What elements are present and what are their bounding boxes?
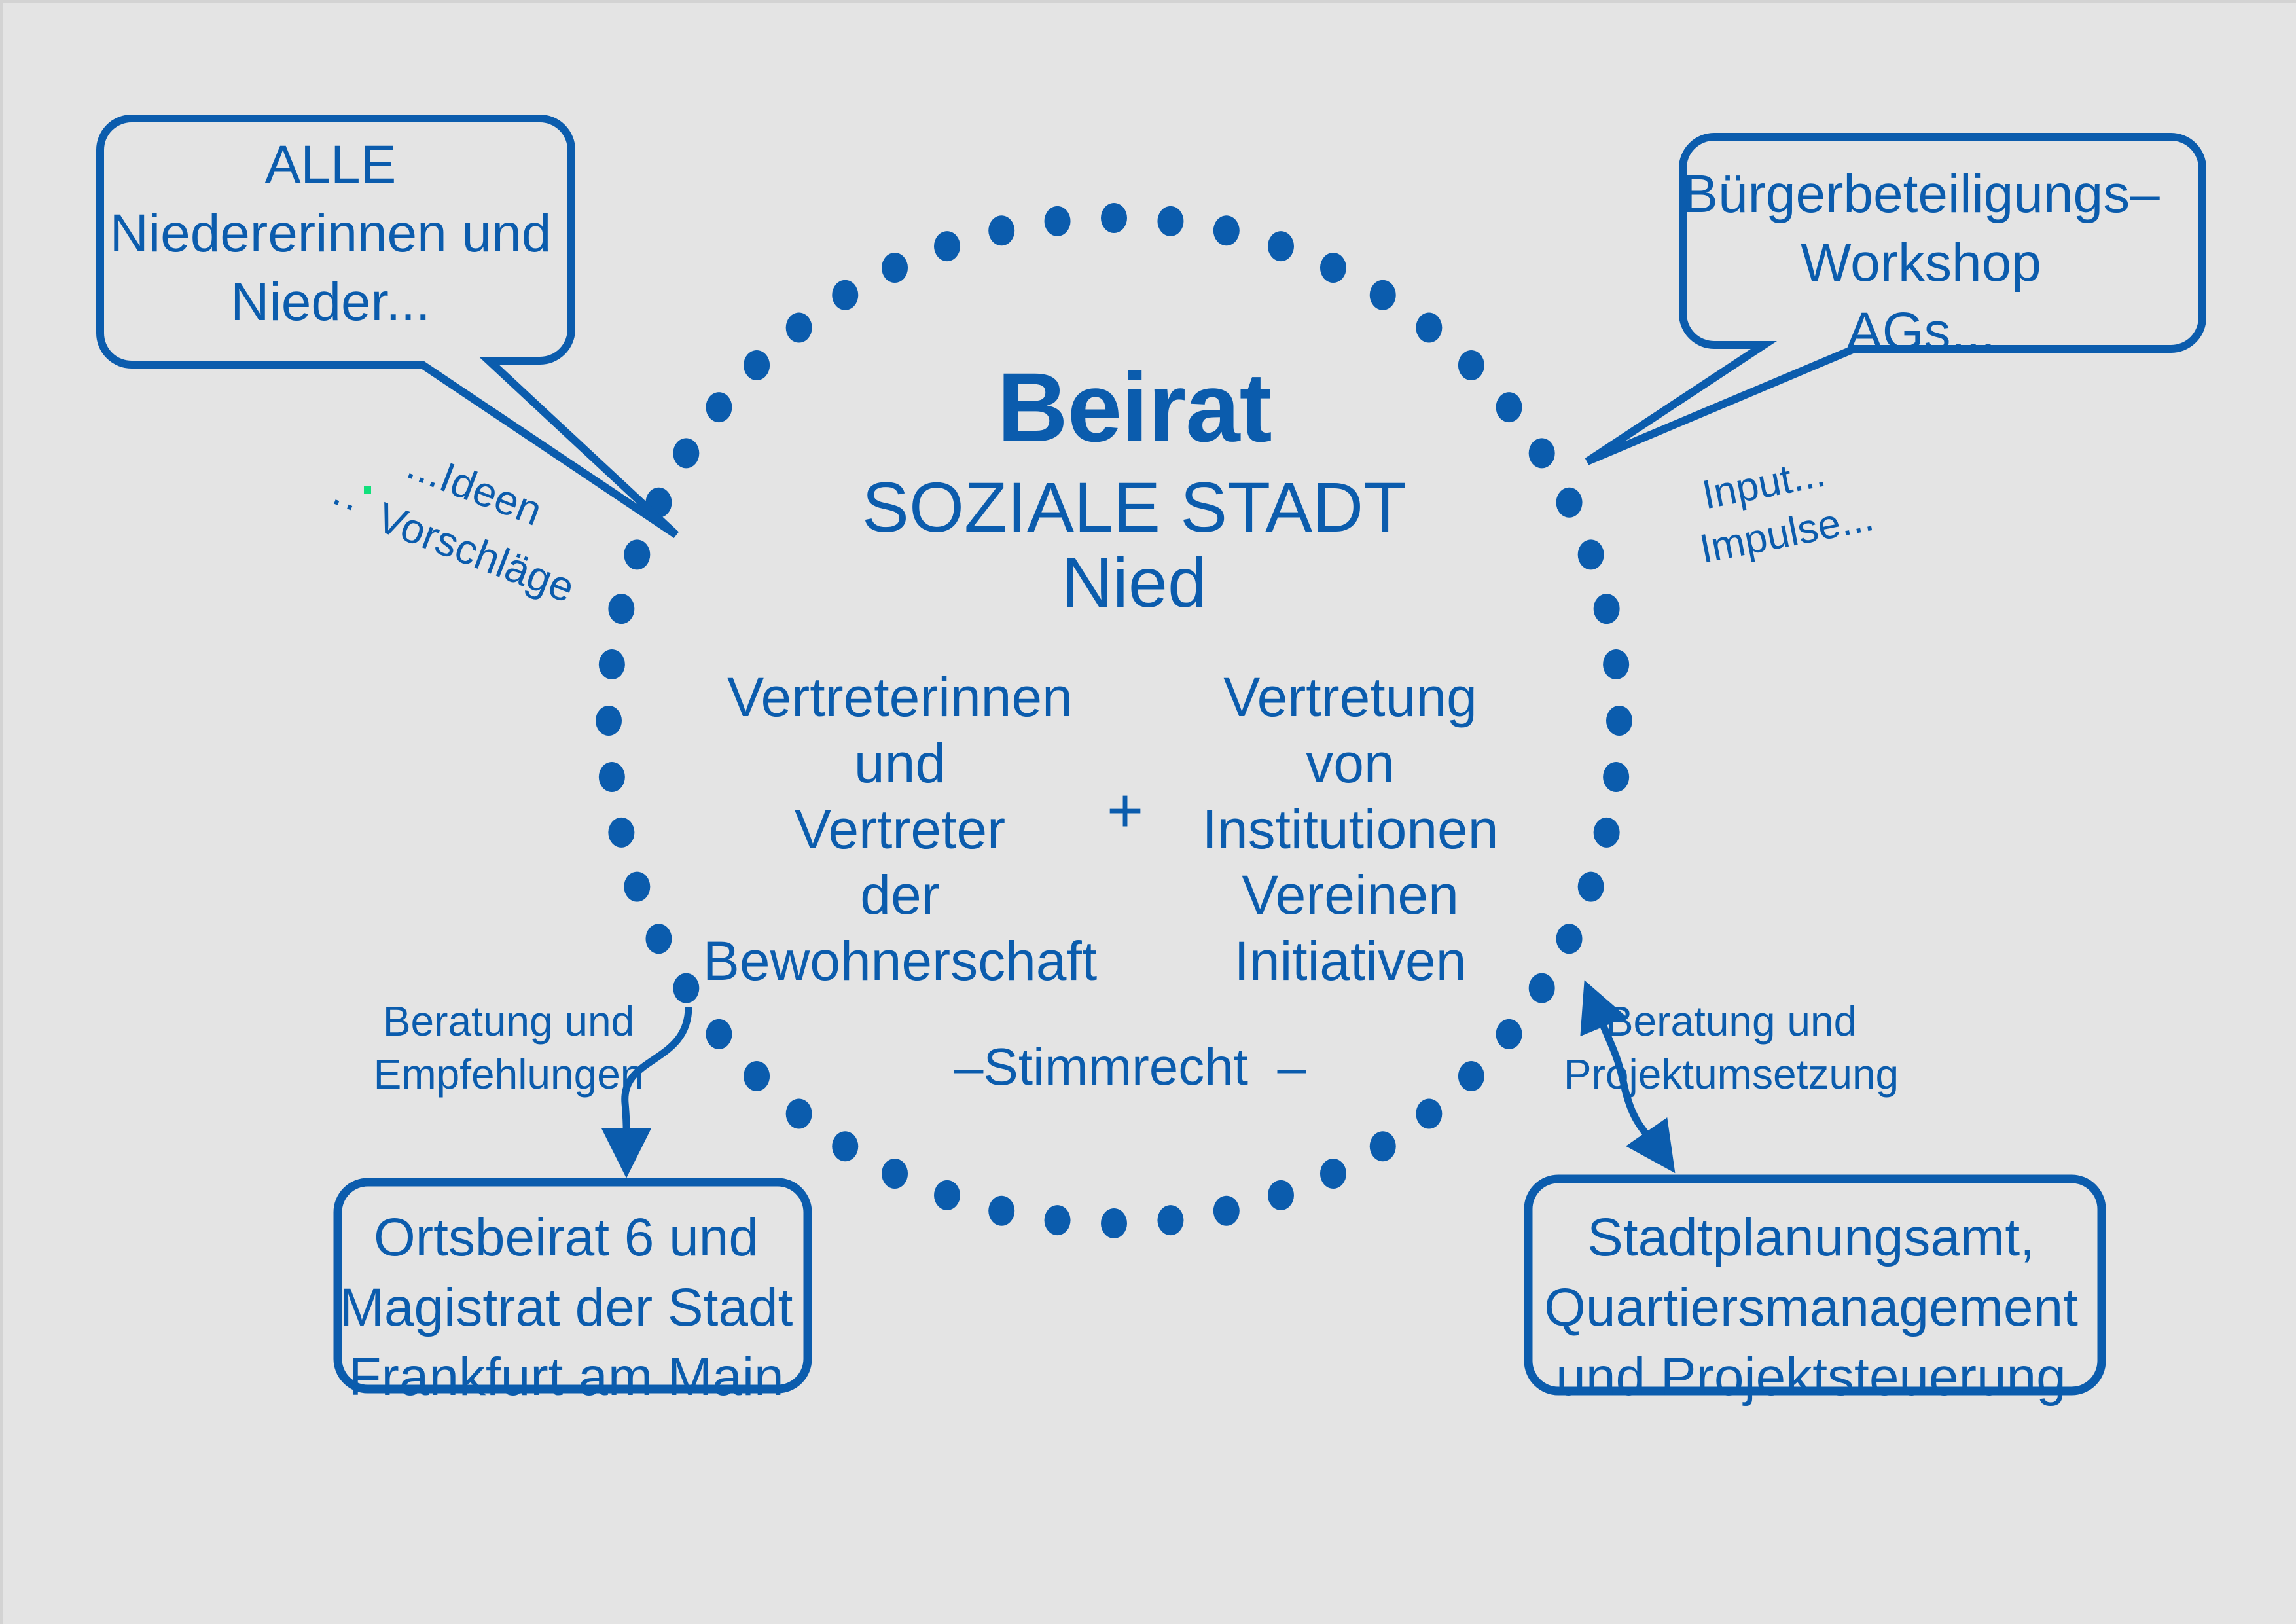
ring-dot bbox=[1370, 1131, 1396, 1161]
ring-dot bbox=[1213, 1196, 1240, 1226]
stimmrecht-note: –Stimmrecht – bbox=[954, 1038, 1306, 1096]
ring-dot bbox=[1268, 1180, 1294, 1210]
ring-dot bbox=[645, 924, 672, 954]
ring-dot bbox=[1045, 1205, 1071, 1235]
ring-dot bbox=[1045, 206, 1071, 236]
center-subtitle-line-1: SOZIALE STADT bbox=[862, 468, 1407, 547]
ring-dot bbox=[1213, 215, 1240, 245]
ring-dot bbox=[1529, 973, 1555, 1003]
center-subtitle-line-2: Nied bbox=[1062, 543, 1207, 623]
ring-dot bbox=[934, 1180, 960, 1210]
ring-dot bbox=[1529, 438, 1555, 468]
ring-dot bbox=[1157, 1205, 1183, 1235]
ring-dot bbox=[1320, 1159, 1346, 1189]
box-bottom-right-text: Stadtplanungsamt, Quartiersmanagement un… bbox=[1544, 1203, 2078, 1413]
ring-dot bbox=[1157, 206, 1183, 236]
center-right-column: Vertretung von Institutionen Vereinen In… bbox=[1202, 664, 1499, 994]
ring-dot bbox=[1458, 350, 1484, 380]
ring-dot bbox=[1101, 203, 1127, 233]
diagram-canvas: Beirat SOZIALE STADT Nied Vertreterinnen… bbox=[0, 0, 2296, 1624]
ring-dot bbox=[1556, 924, 1583, 954]
ring-dot bbox=[1320, 253, 1346, 283]
ring-dot bbox=[786, 1098, 812, 1128]
ring-dot bbox=[596, 706, 622, 736]
ring-dot bbox=[1606, 706, 1632, 736]
ring-dot bbox=[706, 1019, 732, 1049]
ring-dot bbox=[706, 392, 732, 422]
ring-dot bbox=[786, 313, 812, 343]
ring-dot bbox=[1458, 1061, 1484, 1091]
ring-dot bbox=[1370, 280, 1396, 310]
ring-dot bbox=[1594, 594, 1620, 624]
ring-dot bbox=[1556, 488, 1583, 518]
ring-dot bbox=[744, 350, 770, 380]
speech-bubble-top-right-text: Bürgerbeteiligungs– Workshop AGs... bbox=[1682, 160, 2159, 367]
ring-dot bbox=[673, 973, 699, 1003]
ring-dot bbox=[832, 1131, 858, 1161]
ring-dot bbox=[832, 280, 858, 310]
ring-dot bbox=[608, 818, 634, 848]
center-left-column: Vertreterinnen und Vertreter der Bewohne… bbox=[703, 664, 1097, 994]
box-bottom-left-text: Ortsbeirat 6 und Magistrat der Stadt Fra… bbox=[340, 1203, 793, 1413]
ring-dot bbox=[744, 1061, 770, 1091]
ring-dot bbox=[1416, 313, 1442, 343]
speech-bubble-top-left-text: ALLE Niedererinnen und Nieder... bbox=[110, 131, 552, 337]
center-title: Beirat bbox=[997, 352, 1271, 462]
ring-dot bbox=[1101, 1208, 1127, 1238]
ring-dot bbox=[624, 539, 650, 569]
ring-dot bbox=[1496, 392, 1522, 422]
ring-dot bbox=[624, 872, 650, 902]
ring-dot bbox=[608, 594, 634, 624]
ring-dot bbox=[1594, 818, 1620, 848]
plus-operator: + bbox=[1107, 776, 1143, 846]
ring-dot bbox=[599, 649, 625, 679]
ring-dot bbox=[1578, 539, 1604, 569]
ring-dot bbox=[1578, 872, 1604, 902]
ring-dot bbox=[1496, 1019, 1522, 1049]
ring-dot bbox=[599, 762, 625, 792]
annotation-beratung-projektumsetzung: Beratung und Projektumsetzung bbox=[1564, 995, 1899, 1100]
annotation-beratung-empfehlungen: Beratung und Empfehlungen bbox=[374, 995, 644, 1100]
ring-dot bbox=[934, 231, 960, 261]
ring-dot bbox=[882, 253, 908, 283]
ring-dot bbox=[882, 1159, 908, 1189]
ring-dot bbox=[1416, 1098, 1442, 1128]
ring-dot bbox=[988, 1196, 1014, 1226]
ring-dot bbox=[1603, 762, 1629, 792]
ring-dot bbox=[988, 215, 1014, 245]
ring-dot bbox=[673, 438, 699, 468]
ring-dot bbox=[1268, 231, 1294, 261]
ring-dot bbox=[1603, 649, 1629, 679]
